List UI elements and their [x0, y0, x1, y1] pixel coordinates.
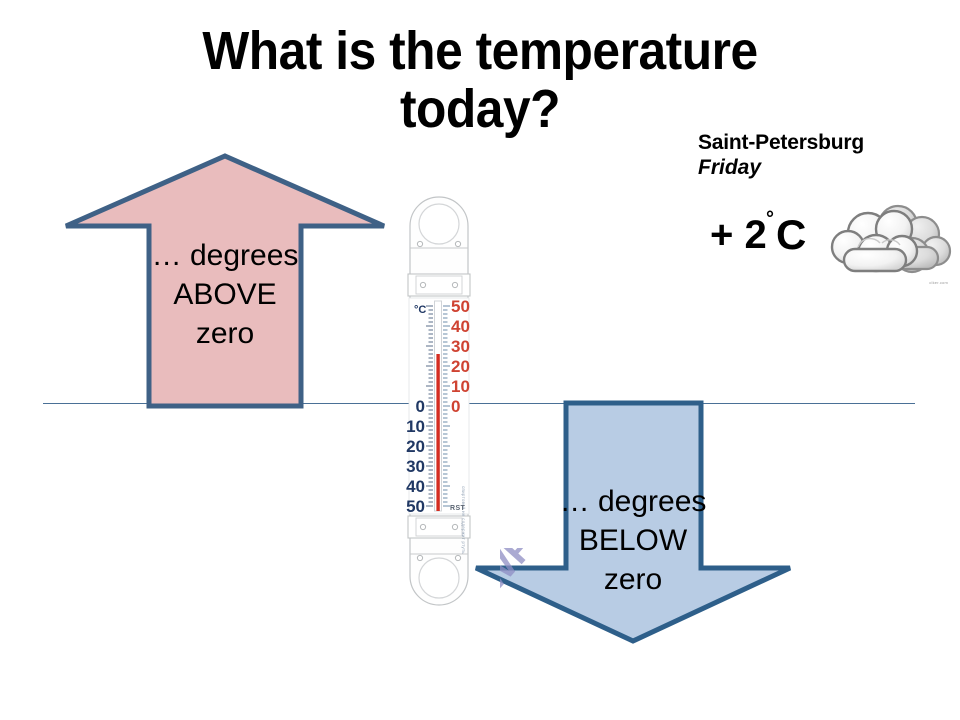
svg-text:40: 40 — [406, 477, 425, 496]
svg-text:10: 10 — [451, 377, 470, 396]
svg-text:40: 40 — [451, 317, 470, 336]
svg-text:0: 0 — [416, 397, 425, 416]
svg-text:10: 10 — [406, 417, 425, 436]
arrow-up-above-zero[interactable] — [60, 150, 390, 412]
cloud-watermark-text: clker.com — [929, 280, 948, 285]
weather-block: Saint-Petersburg Friday + 2 ° C — [698, 131, 953, 182]
weather-city: Saint-Petersburg — [698, 131, 953, 154]
cloudy-icon: clker.com — [824, 203, 952, 291]
svg-text:30: 30 — [451, 337, 470, 356]
thermometer-image: °C — [398, 186, 480, 616]
arrow-down-below-zero[interactable] — [468, 400, 798, 645]
slide-canvas: What is the temperature today? … degrees… — [0, 0, 960, 720]
svg-text:спиртовой не содержит ртуть: спиртовой не содержит ртуть — [461, 486, 466, 554]
temperature-unit: C — [776, 213, 806, 257]
svg-text:RST: RST — [450, 505, 466, 512]
svg-text:30: 30 — [406, 457, 425, 476]
svg-text:50: 50 — [406, 497, 425, 516]
svg-text:50: 50 — [451, 297, 470, 316]
svg-text:°C: °C — [414, 304, 426, 316]
degree-symbol: ° — [766, 209, 774, 229]
temperature-value: + 2 — [710, 213, 767, 257]
svg-text:0: 0 — [451, 397, 460, 416]
weather-temperature-row: + 2 ° C — [706, 213, 956, 275]
weather-weekday: Friday — [698, 154, 953, 182]
svg-text:20: 20 — [406, 437, 425, 456]
page-title: What is the temperature today? — [103, 22, 857, 139]
svg-text:20: 20 — [451, 357, 470, 376]
